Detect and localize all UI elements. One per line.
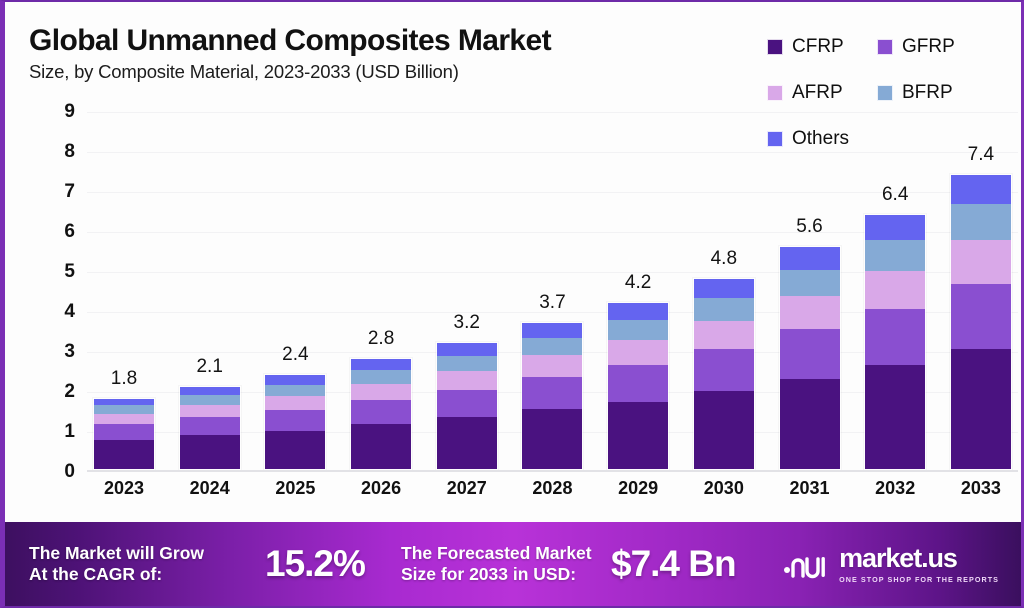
bar-segment-others-2029[interactable] [608, 303, 668, 320]
bar-segment-others-2030[interactable] [694, 279, 754, 298]
bar-value-label-2024: 2.1 [196, 356, 222, 378]
legend-swatch-gfrp [877, 39, 893, 55]
bar-value-label-2030: 4.8 [711, 248, 737, 270]
bar-group-2030[interactable]: 4.8 [693, 112, 755, 470]
bar-segment-cfrp-2025[interactable] [265, 431, 325, 469]
bar-segment-gfrp-2027[interactable] [437, 390, 497, 418]
bar-segment-afrp-2024[interactable] [180, 405, 240, 417]
x-axis-tick-2031: 2031 [779, 478, 841, 508]
x-axis: 2023202420252026202720282029203020312032… [87, 478, 1018, 508]
bar-group-2028[interactable]: 3.7 [521, 112, 583, 470]
legend-item-afrp[interactable]: AFRP [767, 70, 877, 116]
x-axis-tick-2024: 2024 [179, 478, 241, 508]
bar-group-2026[interactable]: 2.8 [350, 112, 412, 470]
bar-segment-cfrp-2030[interactable] [694, 391, 754, 469]
brand-text: market.us ONE STOP SHOP FOR THE REPORTS [839, 545, 999, 584]
bar-segment-gfrp-2023[interactable] [94, 424, 154, 440]
bar-stack-2030[interactable] [693, 278, 755, 470]
bar-segment-others-2025[interactable] [265, 375, 325, 385]
bar-segment-afrp-2033[interactable] [951, 240, 1011, 284]
bar-segment-gfrp-2033[interactable] [951, 284, 1011, 349]
bar-segment-gfrp-2032[interactable] [865, 309, 925, 365]
bar-segment-cfrp-2027[interactable] [437, 417, 497, 469]
x-axis-tick-2025: 2025 [264, 478, 326, 508]
legend-label-bfrp: BFRP [902, 82, 953, 104]
bar-segment-afrp-2031[interactable] [780, 296, 840, 329]
title-block: Global Unmanned Composites Market Size, … [29, 24, 551, 83]
bar-segment-cfrp-2024[interactable] [180, 435, 240, 469]
bar-segment-gfrp-2024[interactable] [180, 417, 240, 435]
legend-item-gfrp[interactable]: GFRP [877, 24, 987, 70]
legend-label-afrp: AFRP [792, 82, 843, 104]
bar-segment-afrp-2028[interactable] [522, 355, 582, 377]
y-axis-tick-0: 0 [64, 461, 75, 483]
bar-segment-cfrp-2028[interactable] [522, 409, 582, 469]
bar-group-2029[interactable]: 4.2 [607, 112, 669, 470]
x-axis-tick-2026: 2026 [350, 478, 412, 508]
bar-segment-gfrp-2030[interactable] [694, 349, 754, 391]
x-axis-tick-2023: 2023 [93, 478, 155, 508]
bar-segment-bfrp-2031[interactable] [780, 270, 840, 297]
bar-stack-2026[interactable] [350, 358, 412, 470]
x-axis-tick-2029: 2029 [607, 478, 669, 508]
bar-segment-afrp-2023[interactable] [94, 414, 154, 425]
chart-grid-area: 1.82.12.42.83.23.74.24.85.66.47.4 [87, 112, 1018, 472]
bar-value-label-2025: 2.4 [282, 344, 308, 366]
y-axis-tick-2: 2 [64, 381, 75, 403]
brand-tagline: ONE STOP SHOP FOR THE REPORTS [839, 575, 999, 584]
y-axis-tick-5: 5 [64, 261, 75, 283]
bar-segment-gfrp-2028[interactable] [522, 377, 582, 409]
bar-segment-cfrp-2026[interactable] [351, 424, 411, 469]
cagr-value: 15.2% [265, 543, 397, 585]
bar-stack-2029[interactable] [607, 302, 669, 470]
x-axis-tick-2032: 2032 [864, 478, 926, 508]
y-axis-tick-1: 1 [64, 421, 75, 443]
bar-stack-2028[interactable] [521, 322, 583, 470]
bar-group-2031[interactable]: 5.6 [779, 112, 841, 470]
bar-segment-afrp-2025[interactable] [265, 396, 325, 410]
y-axis-tick-9: 9 [64, 101, 75, 123]
cagr-label-line1: The Market will Grow [29, 543, 265, 564]
bar-stack-2025[interactable] [264, 374, 326, 470]
bar-segment-others-2027[interactable] [437, 343, 497, 356]
bar-segment-cfrp-2033[interactable] [951, 349, 1011, 469]
bar-segment-bfrp-2026[interactable] [351, 370, 411, 383]
brand-name: market.us [839, 545, 999, 572]
forecast-label: The Forecasted Market Size for 2033 in U… [401, 543, 605, 584]
bar-value-label-2028: 3.7 [539, 292, 565, 314]
bar-segment-bfrp-2032[interactable] [865, 240, 925, 271]
bar-value-label-2026: 2.8 [368, 328, 394, 350]
bar-segment-afrp-2026[interactable] [351, 384, 411, 401]
page-subtitle: Size, by Composite Material, 2023-2033 (… [29, 61, 551, 83]
bar-segment-bfrp-2027[interactable] [437, 356, 497, 371]
bar-group-2025[interactable]: 2.4 [264, 112, 326, 470]
legend-label-cfrp: CFRP [792, 36, 844, 58]
brand-logo[interactable]: market.us ONE STOP SHOP FOR THE REPORTS [783, 545, 999, 584]
legend-swatch-cfrp [767, 39, 783, 55]
bar-segment-bfrp-2028[interactable] [522, 338, 582, 355]
forecast-label-line2: Size for 2033 in USD: [401, 564, 605, 585]
bar-value-label-2023: 1.8 [111, 368, 137, 390]
bar-segment-afrp-2027[interactable] [437, 371, 497, 390]
bar-segment-gfrp-2031[interactable] [780, 329, 840, 378]
bar-segment-bfrp-2023[interactable] [94, 405, 154, 414]
forecast-value: $7.4 Bn [611, 543, 771, 585]
bar-segment-gfrp-2026[interactable] [351, 400, 411, 424]
legend-item-cfrp[interactable]: CFRP [767, 24, 877, 70]
chart-plot-area: 0123456789 1.82.12.42.83.23.74.24.85.66.… [43, 112, 1018, 472]
page-title: Global Unmanned Composites Market [29, 24, 551, 58]
y-axis-tick-8: 8 [64, 141, 75, 163]
bar-segment-cfrp-2031[interactable] [780, 379, 840, 469]
header: Global Unmanned Composites Market Size, … [5, 2, 1024, 120]
footer-banner: The Market will Grow At the CAGR of: 15.… [5, 522, 1021, 606]
x-axis-baseline [87, 470, 1018, 472]
market-us-logo-icon [783, 546, 829, 582]
bar-segment-bfrp-2024[interactable] [180, 395, 240, 405]
y-axis-tick-7: 7 [64, 181, 75, 203]
bar-segment-afrp-2032[interactable] [865, 271, 925, 309]
bar-segment-others-2028[interactable] [522, 323, 582, 338]
bar-segment-afrp-2029[interactable] [608, 340, 668, 365]
legend-label-gfrp: GFRP [902, 36, 955, 58]
bar-stack-2024[interactable] [179, 386, 241, 470]
x-axis-tick-2028: 2028 [521, 478, 583, 508]
bar-group-2027[interactable]: 3.2 [436, 112, 498, 470]
cagr-label: The Market will Grow At the CAGR of: [29, 543, 265, 584]
bar-stack-2031[interactable] [779, 246, 841, 470]
y-axis-tick-6: 6 [64, 221, 75, 243]
bar-stack-2027[interactable] [436, 342, 498, 470]
y-axis-tick-3: 3 [64, 341, 75, 363]
bar-segment-others-2024[interactable] [180, 387, 240, 395]
bar-value-label-2029: 4.2 [625, 272, 651, 294]
bar-segment-others-2031[interactable] [780, 247, 840, 270]
bar-segment-others-2032[interactable] [865, 215, 925, 240]
bar-value-label-2031: 5.6 [796, 216, 822, 238]
bar-stack-2033[interactable] [950, 174, 1012, 470]
legend-swatch-afrp [767, 85, 783, 101]
x-axis-tick-2033: 2033 [950, 478, 1012, 508]
y-axis-tick-4: 4 [64, 301, 75, 323]
legend-swatch-bfrp [877, 85, 893, 101]
bar-stack-2032[interactable] [864, 214, 926, 470]
bar-segment-bfrp-2033[interactable] [951, 204, 1011, 239]
bar-segment-others-2033[interactable] [951, 175, 1011, 204]
bar-stack-2023[interactable] [93, 398, 155, 470]
bar-segment-bfrp-2029[interactable] [608, 320, 668, 340]
bar-segment-cfrp-2032[interactable] [865, 365, 925, 469]
forecast-label-line1: The Forecasted Market [401, 543, 605, 564]
bar-segment-bfrp-2030[interactable] [694, 298, 754, 321]
bar-value-label-2027: 3.2 [454, 312, 480, 334]
bar-segment-others-2026[interactable] [351, 359, 411, 370]
cagr-label-line2: At the CAGR of: [29, 564, 265, 585]
legend-item-bfrp[interactable]: BFRP [877, 70, 987, 116]
bar-segment-gfrp-2029[interactable] [608, 365, 668, 402]
bar-value-label-2032: 6.4 [882, 184, 908, 206]
bar-value-label-2033: 7.4 [968, 144, 994, 166]
bar-group-2024[interactable]: 2.1 [179, 112, 241, 470]
bar-group-2033[interactable]: 7.4 [950, 112, 1012, 470]
bar-segment-afrp-2030[interactable] [694, 321, 754, 350]
bar-segment-bfrp-2025[interactable] [265, 385, 325, 396]
bar-segment-cfrp-2023[interactable] [94, 440, 154, 469]
infographic-root: Global Unmanned Composites Market Size, … [0, 0, 1024, 608]
bar-group-2023[interactable]: 1.8 [93, 112, 155, 470]
bar-segment-gfrp-2025[interactable] [265, 410, 325, 431]
bar-segment-cfrp-2029[interactable] [608, 402, 668, 469]
y-axis: 0123456789 [43, 112, 79, 472]
bar-group-2032[interactable]: 6.4 [864, 112, 926, 470]
x-axis-tick-2030: 2030 [693, 478, 755, 508]
x-axis-tick-2027: 2027 [436, 478, 498, 508]
bars-container: 1.82.12.42.83.23.74.24.85.66.47.4 [87, 112, 1018, 470]
